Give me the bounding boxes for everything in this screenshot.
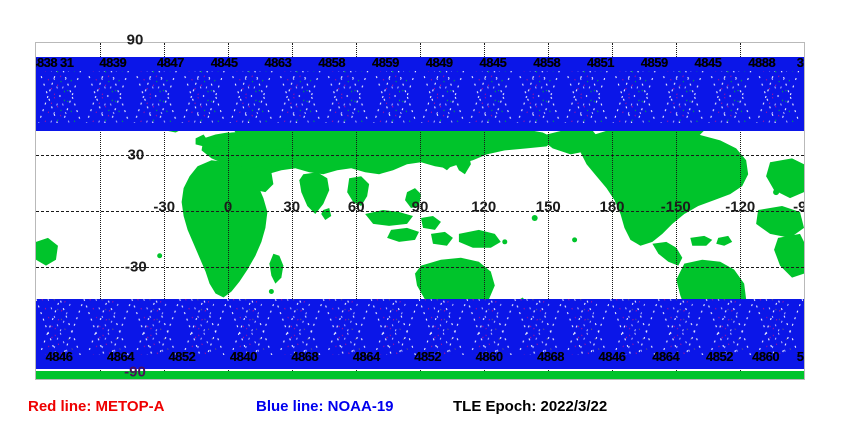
latitude-label-m90: -90: [124, 364, 146, 381]
orbit-number-label: 4838: [36, 55, 57, 70]
orbit-number-label: 31: [60, 55, 73, 70]
orbit-number-label: 4845: [695, 55, 722, 70]
orbit-number-label: 4840: [230, 349, 257, 364]
orbit-number-label: 4858: [318, 55, 345, 70]
orbit-number-label: 4859: [641, 55, 668, 70]
band-label-row-top: 4838314839484748454863485848594849484548…: [36, 55, 804, 73]
orbit-number-label: 3: [797, 55, 804, 70]
orbit-number-label: 4860: [752, 349, 779, 364]
orbit-number-label: 4849: [426, 55, 453, 70]
longitude-label: 180: [599, 198, 624, 215]
orbit-number-label: 4851: [587, 55, 614, 70]
longitude-label: -30: [153, 198, 175, 215]
longitude-label: -120: [725, 198, 755, 215]
map-frame: 4838314839484748454863485848594849484548…: [35, 42, 805, 380]
orbit-number-label: 4888: [748, 55, 775, 70]
longitude-label: -90: [793, 198, 805, 215]
orbit-number-label: 4845: [211, 55, 238, 70]
longitude-label: 150: [536, 198, 561, 215]
orbit-number-label: 4864: [652, 349, 679, 364]
legend: Red line: METOP-A Blue line: NOAA-19 TLE…: [28, 398, 828, 420]
legend-metop-a: Red line: METOP-A: [28, 398, 164, 415]
longitude-label: 60: [348, 198, 365, 215]
orbit-number-label: 4859: [372, 55, 399, 70]
longitude-label: 0: [224, 198, 232, 215]
orbit-number-label: 4864: [107, 349, 134, 364]
longitude-label: 90: [412, 198, 429, 215]
orbit-number-label: 4852: [168, 349, 195, 364]
latitude-label: -30: [125, 259, 147, 276]
orbit-number-label: 4846: [599, 349, 626, 364]
orbit-number-label: 4858: [533, 55, 560, 70]
latitude-label: 30: [127, 146, 144, 163]
orbit-number-label: 4863: [264, 55, 291, 70]
longitude-label: 120: [471, 198, 496, 215]
orbit-number-label: 4868: [291, 349, 318, 364]
longitude-label: 30: [283, 198, 300, 215]
orbit-number-label: 4864: [353, 349, 380, 364]
legend-noaa-19: Blue line: NOAA-19: [256, 398, 394, 415]
antarctic-strip: [36, 371, 804, 379]
longitude-label: -150: [661, 198, 691, 215]
latitude-label-90: 90: [127, 32, 144, 49]
orbit-number-label: 4860: [476, 349, 503, 364]
orbit-number-label: 5: [797, 349, 804, 364]
orbit-number-label: 4868: [537, 349, 564, 364]
orbit-number-label: 4852: [706, 349, 733, 364]
orbit-number-label: 4839: [99, 55, 126, 70]
orbit-number-label: 4846: [46, 349, 73, 364]
ground-track-map: 4838314839484748454863485848594849484548…: [35, 42, 805, 380]
orbit-number-label: 4845: [479, 55, 506, 70]
legend-tle-epoch: TLE Epoch: 2022/3/22: [453, 398, 607, 415]
orbit-number-label: 4847: [157, 55, 184, 70]
orbit-number-label: 4852: [414, 349, 441, 364]
band-label-row-bottom: 4846486448524840486848644852486048684846…: [36, 349, 804, 367]
